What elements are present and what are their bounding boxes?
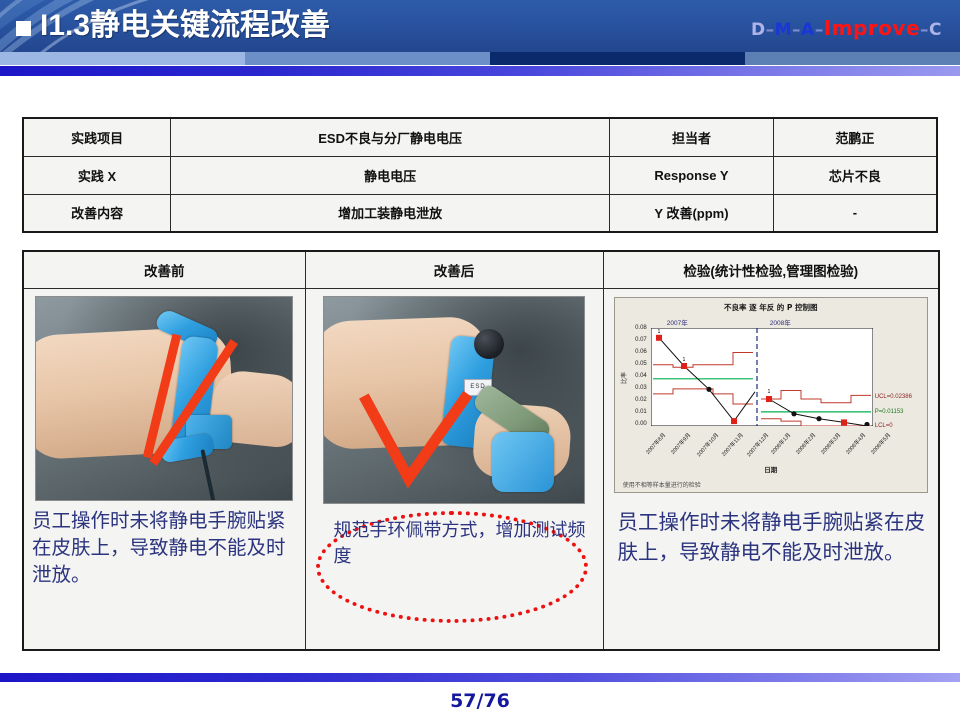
cell-val-1: 芯片不良 [773,156,937,194]
cell-verify: 不良率 逐 年反 的 P 控制图 比率 日期 使用不相等样本量进行的检验 200… [603,288,939,650]
cell-label-1: 实践 X [23,156,171,194]
cell-val-2: - [773,194,937,232]
header-verify: 检验(统计性检验,管理图检验) [603,251,939,288]
ytick-6: 0.06 [621,349,647,355]
ytick-8: 0.08 [621,325,647,331]
footer-gradient-rule [0,673,960,682]
slide: I1.3静电关键流程改善 D–M–A–Improve–C 实践项目 ESD不良与… [0,0,960,720]
dmaic-improve: Improve [824,16,920,40]
dmaic-define: D [751,20,766,40]
dmaic-measure: M [775,20,792,40]
strap-stud-icon [474,329,504,359]
annotation-ucl: UCL=0.02386 [875,394,912,400]
ytick-1: 0.01 [621,409,647,415]
cell-label-2: 改善内容 [23,194,171,232]
project-summary-table: 实践项目 ESD不良与分厂静电电压 担当者 范鹏正 实践 X 静电电压 Resp… [22,117,938,233]
chart-footnote: 使用不相等样本量进行的检验 [623,480,701,489]
xtick-4: 2007年12月 [744,431,770,458]
ytick-4: 0.04 [621,373,647,379]
before-after-table: 改善前 改善后 检验(统计性检验,管理图检验) [22,250,940,651]
xtick-2: 2007年10月 [694,431,720,458]
cell-value-2: 增加工装静电泄放 [171,194,610,232]
table-row: 实践项目 ESD不良与分厂静电电压 担当者 范鹏正 [23,118,937,156]
cell-label-0: 实践项目 [23,118,171,156]
xtick-1: 2007年9月 [668,431,692,456]
header-segment-2 [245,52,490,65]
stage-label-2007: 2007年 [667,317,688,327]
header-after: 改善后 [305,251,603,288]
xtick-6: 2008年2月 [793,431,817,456]
cell-key-1: Response Y [610,156,774,194]
cell-value-1: 静电电压 [171,156,610,194]
dmaic-phase-indicator: D–M–A–Improve–C [751,16,942,40]
square-bullet-icon [16,21,31,36]
xtick-9: 2008年5月 [868,431,892,456]
header-before: 改善前 [23,251,305,288]
after-photo: ESD [323,296,585,504]
page-title: I1.3静电关键流程改善 [16,9,330,43]
svg-text:1: 1 [657,329,660,335]
xtick-8: 2008年4月 [843,431,867,456]
before-caption: 员工操作时未将静电手腕贴紧在皮肤上，导致静电不能及时泄放。 [24,501,305,588]
table-row: 改善内容 增加工装静电泄放 Y 改善(ppm) - [23,194,937,232]
slide-header: I1.3静电关键流程改善 D–M–A–Improve–C [0,0,960,52]
xtick-0: 2007年8月 [643,431,667,456]
xtick-3: 2007年11月 [719,431,744,458]
dmaic-sep-2: – [792,20,801,40]
xtick-7: 2008年3月 [818,431,842,456]
header-segment-bar [0,52,960,65]
cell-key-0: 担当者 [610,118,774,156]
stage-label-2008: 2008年 [770,317,791,327]
ytick-3: 0.03 [621,385,647,391]
dmaic-sep-1: – [766,20,775,40]
page-number: 57/76 [0,690,960,712]
chart-plot-area: 1 1 1 [651,328,873,426]
header-gradient-rule [0,66,960,76]
svg-text:1: 1 [767,389,770,395]
header-segment-4 [745,52,960,65]
before-photo [35,296,293,501]
annotation-center: P=0.01153 [875,409,904,415]
page-title-text: I1.3静电关键流程改善 [40,9,330,43]
wrist-strap-loop [492,432,554,492]
verify-caption: 员工操作时未将静电手腕贴紧在皮肤上，导致静电不能及时泄放。 [604,493,939,567]
table-row: 实践 X 静电电压 Response Y 芯片不良 [23,156,937,194]
table-body-row: 员工操作时未将静电手腕贴紧在皮肤上，导致静电不能及时泄放。 ESD [23,288,939,650]
ytick-5: 0.05 [621,361,647,367]
ytick-7: 0.07 [621,337,647,343]
header-segment-3 [490,52,745,65]
after-caption: 规范手环佩带方式，增加测试频度 [306,504,603,570]
cell-before: 员工操作时未将静电手腕贴紧在皮肤上，导致静电不能及时泄放。 [23,288,305,650]
annotation-lcl: LCL=0 [875,423,893,429]
cell-after: ESD 规范手环佩带方式，增加测试频度 [305,288,603,650]
cell-val-0: 范鹏正 [773,118,937,156]
p-control-chart: 不良率 逐 年反 的 P 控制图 比率 日期 使用不相等样本量进行的检验 200… [614,297,928,493]
table-header-row: 改善前 改善后 检验(统计性检验,管理图检验) [23,251,939,288]
xtick-5: 2008年1月 [768,431,792,456]
dmaic-analyze: A [801,20,815,40]
dmaic-control: C [929,20,942,40]
cell-value-0: ESD不良与分厂静电电压 [171,118,610,156]
svg-text:1: 1 [682,357,685,363]
ytick-2: 0.02 [621,397,647,403]
chart-xlabel: 日期 [615,464,927,474]
chart-title: 不良率 逐 年反 的 P 控制图 [615,302,927,313]
ytick-0: 0.00 [621,421,647,427]
header-segment-1 [0,52,245,65]
cell-key-2: Y 改善(ppm) [610,194,774,232]
dmaic-sep-4: – [920,20,929,40]
dmaic-sep-3: – [815,20,824,40]
